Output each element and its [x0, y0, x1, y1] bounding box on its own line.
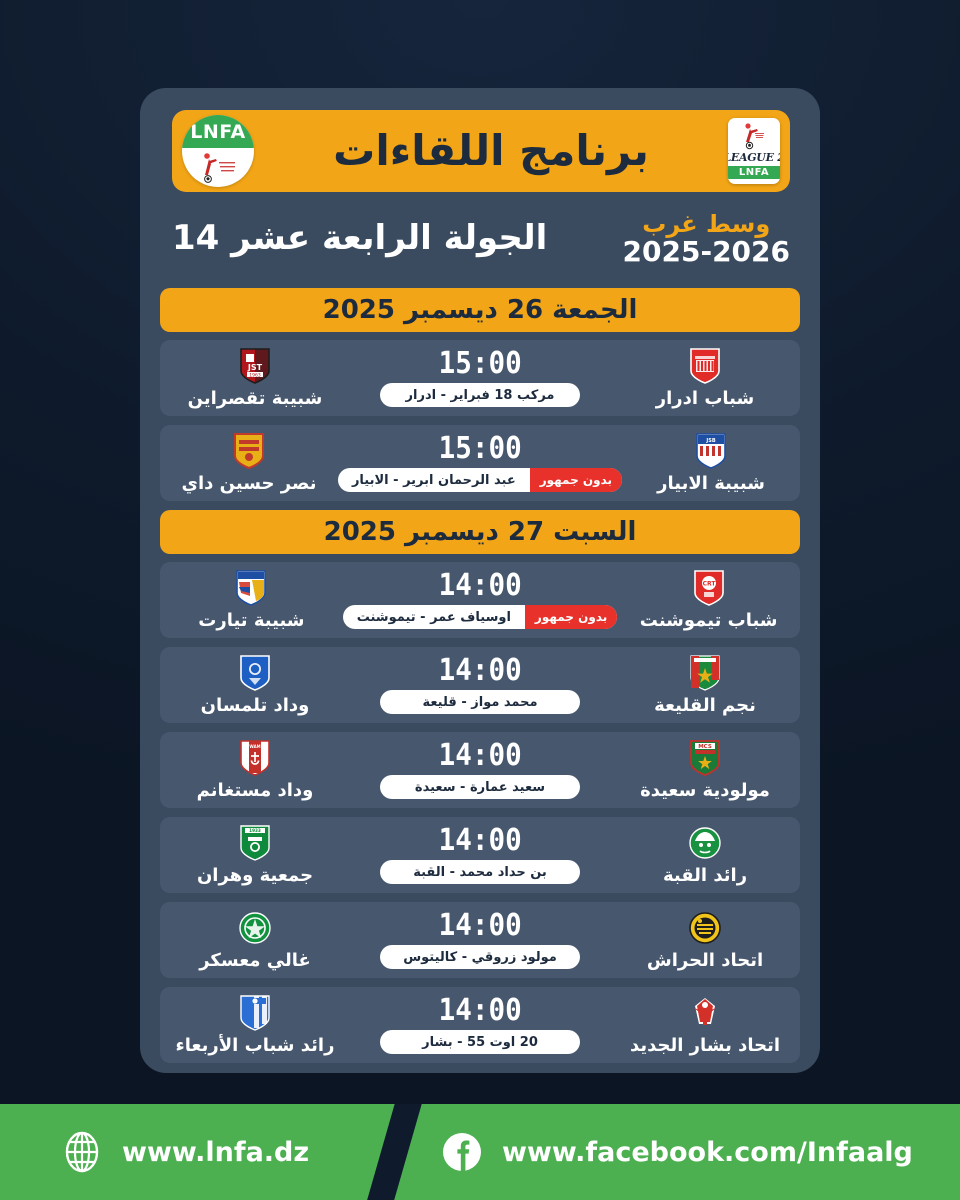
venue-pill: مولود زروقي - كاليتوس: [380, 945, 580, 969]
match-time: 14:00: [438, 826, 521, 856]
lnfa-figure-icon: [741, 121, 767, 151]
lnfa-logo: LNFA: [182, 115, 254, 187]
match-time: 15:00: [438, 349, 521, 379]
usbj-crest: [688, 994, 722, 1032]
home-team: نجم القليعة: [610, 654, 800, 716]
away-team: JST1963 شبيبة تقصراين: [160, 347, 350, 409]
svg-text:1963: 1963: [249, 372, 261, 378]
season-label: 2025-2026: [623, 237, 790, 266]
season-block: وسط غرب 2025-2026: [623, 212, 790, 267]
svg-text:JSB: JSB: [705, 438, 715, 444]
match-row[interactable]: رائد القبة 14:00 بن حداد محمد - القبة 19…: [160, 817, 800, 893]
venue-label: سعيد عمارة - سعيدة: [380, 775, 580, 799]
region-label: وسط غرب: [623, 212, 790, 237]
away-team-name: شبيبة تقصراين: [188, 388, 323, 409]
away-team-name: وداد تلمسان: [201, 695, 310, 716]
away-team: وداد تلمسان: [160, 654, 350, 716]
match-center: 15:00 بدون جمهور عبد الرحمان ابرير - الا…: [338, 434, 622, 492]
usmh-crest: [688, 909, 722, 947]
svg-text:MCS: MCS: [698, 744, 712, 750]
away-team-name: جمعية وهران: [197, 865, 313, 886]
nahd-crest: [232, 432, 266, 470]
round-title: الجولة الرابعة عشر 14: [172, 220, 547, 257]
svg-text:WAM: WAM: [249, 744, 260, 749]
footer-divider: [363, 1104, 424, 1200]
rck-crest: [688, 824, 722, 862]
match-center: 15:00 مركب 18 فبراير - ادرار: [350, 349, 610, 407]
svg-text:CRT: CRT: [702, 581, 716, 588]
away-team: 1933 جمعية وهران: [160, 824, 350, 886]
away-team-name: غالي معسكر: [199, 950, 311, 971]
home-team-name: اتحاد بشار الجديد: [630, 1035, 780, 1056]
venue-pill: محمد مواز - قليعة: [380, 690, 580, 714]
home-team-name: نجم القليعة: [654, 695, 756, 716]
match-list: الجمعة 26 ديسمبر 2025 شباب ادرار 15:00 م…: [160, 288, 800, 1072]
home-team-name: مولودية سعيدة: [640, 780, 770, 801]
venue-pill: مركب 18 فبراير - ادرار: [380, 383, 580, 407]
match-row[interactable]: اتحاد بشار الجديد 14:00 20 اوت 55 - بشار…: [160, 987, 800, 1063]
match-time: 14:00: [438, 741, 521, 771]
poster-header: LEAGUE 2 LNFA برنامج اللقاءات LNFA: [172, 110, 790, 192]
home-team: CRT شباب تيموشنت: [617, 569, 800, 631]
home-team: MCS مولودية سعيدة: [610, 739, 800, 801]
home-team-name: شباب تيموشنت: [640, 610, 778, 631]
asmo-crest: 1933: [238, 824, 272, 862]
home-team-name: اتحاد الحراش: [647, 950, 763, 971]
league2-label: LEAGUE 2: [728, 152, 780, 163]
facebook-label: www.facebook.com/Infaalg: [502, 1137, 913, 1168]
venue-pill: 20 اوت 55 - بشار: [380, 1030, 580, 1054]
match-center: 14:00 بدون جمهور اوسياف عمر - تيموشنت: [343, 571, 618, 629]
home-team: اتحاد الحراش: [610, 909, 800, 971]
league2-badge-footer: LNFA: [728, 166, 780, 179]
jsb-crest: JSB: [694, 432, 728, 470]
subheader: وسط غرب 2025-2026 الجولة الرابعة عشر 14: [172, 200, 790, 278]
match-row[interactable]: شباب ادرار 15:00 مركب 18 فبراير - ادرار …: [160, 340, 800, 416]
footer-bar: www.lnfa.dz www.facebook.com/Infaalg: [0, 1104, 960, 1200]
match-time: 14:00: [438, 571, 521, 601]
venue-label: 20 اوت 55 - بشار: [380, 1030, 580, 1054]
mcs-crest: MCS: [688, 739, 722, 777]
globe-icon: [60, 1130, 104, 1174]
venue-pill: بدون جمهور اوسياف عمر - تيموشنت: [343, 605, 618, 629]
match-center: 14:00 20 اوت 55 - بشار: [350, 996, 610, 1054]
home-team-name: شبيبة الابيار: [657, 473, 765, 494]
match-row[interactable]: CRT شباب تيموشنت 14:00 بدون جمهور اوسياف…: [160, 562, 800, 638]
match-row[interactable]: JSB شبيبة الابيار 15:00 بدون جمهور عبد ا…: [160, 425, 800, 501]
home-team: شباب ادرار: [610, 347, 800, 409]
home-team-name: شباب ادرار: [656, 388, 754, 409]
wat-crest: [238, 654, 272, 692]
match-center: 14:00 سعيد عمارة - سعيدة: [350, 741, 610, 799]
match-time: 15:00: [438, 434, 521, 464]
away-team-name: شبيبة تيارت: [198, 610, 304, 631]
csa-adrar-crest: [688, 347, 722, 385]
page-title: برنامج اللقاءات: [254, 130, 728, 172]
venue-label: محمد مواز - قليعة: [380, 690, 580, 714]
no-audience-badge: بدون جمهور: [525, 605, 617, 629]
away-team: غالي معسكر: [160, 909, 350, 971]
match-row[interactable]: نجم القليعة 14:00 محمد مواز - قليعة وداد…: [160, 647, 800, 723]
lnfa-logo-figure-icon: [182, 148, 254, 187]
home-team: رائد القبة: [610, 824, 800, 886]
venue-label: مولود زروقي - كاليتوس: [380, 945, 580, 969]
venue-pill: بن حداد محمد - القبة: [380, 860, 580, 884]
jst-crest: JST1963: [238, 347, 272, 385]
nrk-crest: [688, 654, 722, 692]
match-row[interactable]: MCS مولودية سعيدة 14:00 سعيد عمارة - سعي…: [160, 732, 800, 808]
league2-badge: LEAGUE 2 LNFA: [728, 118, 780, 184]
match-row[interactable]: اتحاد الحراش 14:00 مولود زروقي - كاليتوس…: [160, 902, 800, 978]
home-team: JSB شبيبة الابيار: [622, 432, 800, 494]
website-link[interactable]: www.lnfa.dz: [60, 1104, 309, 1200]
rca-crest: [238, 994, 272, 1032]
venue-pill: بدون جمهور عبد الرحمان ابرير - الابيار: [338, 468, 622, 492]
away-team: شبيبة تيارت: [160, 569, 343, 631]
away-team: نصر حسين داي: [160, 432, 338, 494]
gcm-crest: [238, 909, 272, 947]
jst-tiaret-crest: [234, 569, 268, 607]
wam-crest: WAM: [238, 739, 272, 777]
home-team-name: رائد القبة: [663, 865, 747, 886]
venue-label: اوسياف عمر - تيموشنت: [343, 605, 525, 629]
match-center: 14:00 مولود زروقي - كاليتوس: [350, 911, 610, 969]
away-team-name: نصر حسين داي: [182, 473, 317, 494]
svg-text:1933: 1933: [249, 828, 261, 833]
lnfa-logo-text: LNFA: [182, 115, 254, 148]
day-banner: الجمعة 26 ديسمبر 2025: [160, 288, 800, 332]
poster-canvas: LEAGUE 2 LNFA برنامج اللقاءات LNFA: [0, 0, 960, 1200]
day-banner: السبت 27 ديسمبر 2025: [160, 510, 800, 554]
match-center: 14:00 محمد مواز - قليعة: [350, 656, 610, 714]
facebook-icon: [440, 1130, 484, 1174]
away-team-name: وداد مستغانم: [197, 780, 314, 801]
match-center: 14:00 بن حداد محمد - القبة: [350, 826, 610, 884]
match-time: 14:00: [438, 911, 521, 941]
venue-label: مركب 18 فبراير - ادرار: [380, 383, 580, 407]
match-time: 14:00: [438, 996, 521, 1026]
crt-crest: CRT: [692, 569, 726, 607]
away-team: رائد شباب الأربعاء: [160, 994, 350, 1056]
away-team: WAM وداد مستغانم: [160, 739, 350, 801]
svg-text:JST: JST: [247, 363, 263, 372]
no-audience-badge: بدون جمهور: [530, 468, 622, 492]
website-label: www.lnfa.dz: [122, 1137, 309, 1168]
away-team-name: رائد شباب الأربعاء: [176, 1035, 335, 1056]
venue-pill: سعيد عمارة - سعيدة: [380, 775, 580, 799]
venue-label: بن حداد محمد - القبة: [380, 860, 580, 884]
facebook-link[interactable]: www.facebook.com/Infaalg: [440, 1104, 913, 1200]
match-time: 14:00: [438, 656, 521, 686]
home-team: اتحاد بشار الجديد: [610, 994, 800, 1056]
venue-label: عبد الرحمان ابرير - الابيار: [338, 468, 530, 492]
